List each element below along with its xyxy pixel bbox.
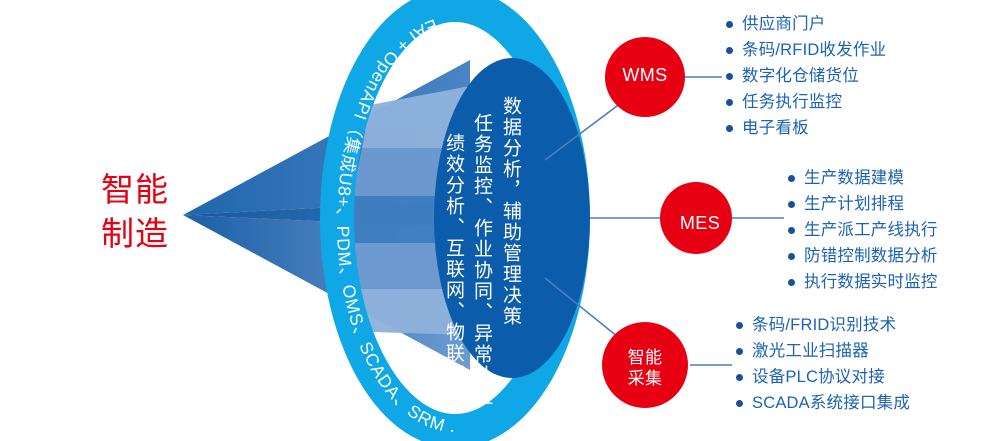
list-item: 条码/RFID收发作业 <box>726 37 886 63</box>
bullet-dot-icon <box>788 201 795 208</box>
list-item: 生产派工产线执行 <box>788 217 938 243</box>
list-item: 条码/FRID识别技术 <box>736 312 910 338</box>
bullet-dot-icon <box>726 47 733 54</box>
node-label-collect: 智能 采集 <box>605 347 685 390</box>
bullet-dot-icon <box>736 400 743 407</box>
list-item-label: 供应商门户 <box>742 16 826 33</box>
list-item: 设备PLC协议对接 <box>736 364 910 390</box>
bullet-dot-icon <box>726 21 733 28</box>
list-item-label: 防错控制数据分析 <box>804 248 938 265</box>
core-text-column-2: 任务监控、作业协同、异常处理 <box>468 113 495 407</box>
list-item: 任务执行监控 <box>726 89 886 115</box>
bullet-dot-icon <box>726 99 733 106</box>
list-item-label: 生产派工产线执行 <box>804 222 938 239</box>
list-item-label: 激光工业扫描器 <box>752 343 869 360</box>
list-item-label: 数字化仓储货位 <box>742 68 859 85</box>
bullet-dot-icon <box>726 125 733 132</box>
list-item-label: 电子看板 <box>742 120 809 137</box>
list-item: 数字化仓储货位 <box>726 63 886 89</box>
node-label-mes: MES <box>660 212 740 235</box>
bullet-dot-icon <box>788 227 795 234</box>
list-item-label: SCADA系统接口集成 <box>752 395 910 412</box>
list-item: 电子看板 <box>726 115 886 141</box>
list-item: 执行数据实时监控 <box>788 269 938 295</box>
list-item: 激光工业扫描器 <box>736 338 910 364</box>
page-title: 智能 制造 <box>60 168 210 255</box>
list-item-label: 生产数据建模 <box>804 170 904 187</box>
bullet-dot-icon <box>788 279 795 286</box>
diagram-canvas: EAI + OpenAPI（集成U8+、PDM、OMS、SCADA、SRM ..… <box>0 0 1000 441</box>
bullet-dot-icon <box>726 73 733 80</box>
list-item-label: 生产计划排程 <box>804 196 904 213</box>
node-label-wms: WMS <box>605 64 685 87</box>
bullet-dot-icon <box>788 253 795 260</box>
list-item-label: 任务执行监控 <box>742 94 842 111</box>
core-text-column-3: 绩效分析、互联网、物联网 <box>440 133 467 385</box>
bullet-list-collect: 条码/FRID识别技术激光工业扫描器设备PLC协议对接SCADA系统接口集成 <box>736 312 910 416</box>
bullet-list-mes: 生产数据建模生产计划排程生产派工产线执行防错控制数据分析执行数据实时监控 <box>788 165 938 295</box>
list-item-label: 执行数据实时监控 <box>804 274 938 291</box>
list-item-label: 条码/FRID识别技术 <box>752 317 896 334</box>
list-item: 防错控制数据分析 <box>788 243 938 269</box>
bullet-dot-icon <box>736 348 743 355</box>
bullet-dot-icon <box>788 175 795 182</box>
list-item: 生产计划排程 <box>788 191 938 217</box>
list-item-label: 条码/RFID收发作业 <box>742 42 886 59</box>
bullet-dot-icon <box>736 374 743 381</box>
list-item: 供应商门户 <box>726 11 886 37</box>
core-text-column-1: 数据分析，辅助管理决策 <box>497 96 524 327</box>
bullet-dot-icon <box>736 322 743 329</box>
bullet-list-wms: 供应商门户条码/RFID收发作业数字化仓储货位任务执行监控电子看板 <box>726 11 886 141</box>
list-item-label: 设备PLC协议对接 <box>752 369 885 386</box>
list-item: 生产数据建模 <box>788 165 938 191</box>
list-item: SCADA系统接口集成 <box>736 390 910 416</box>
